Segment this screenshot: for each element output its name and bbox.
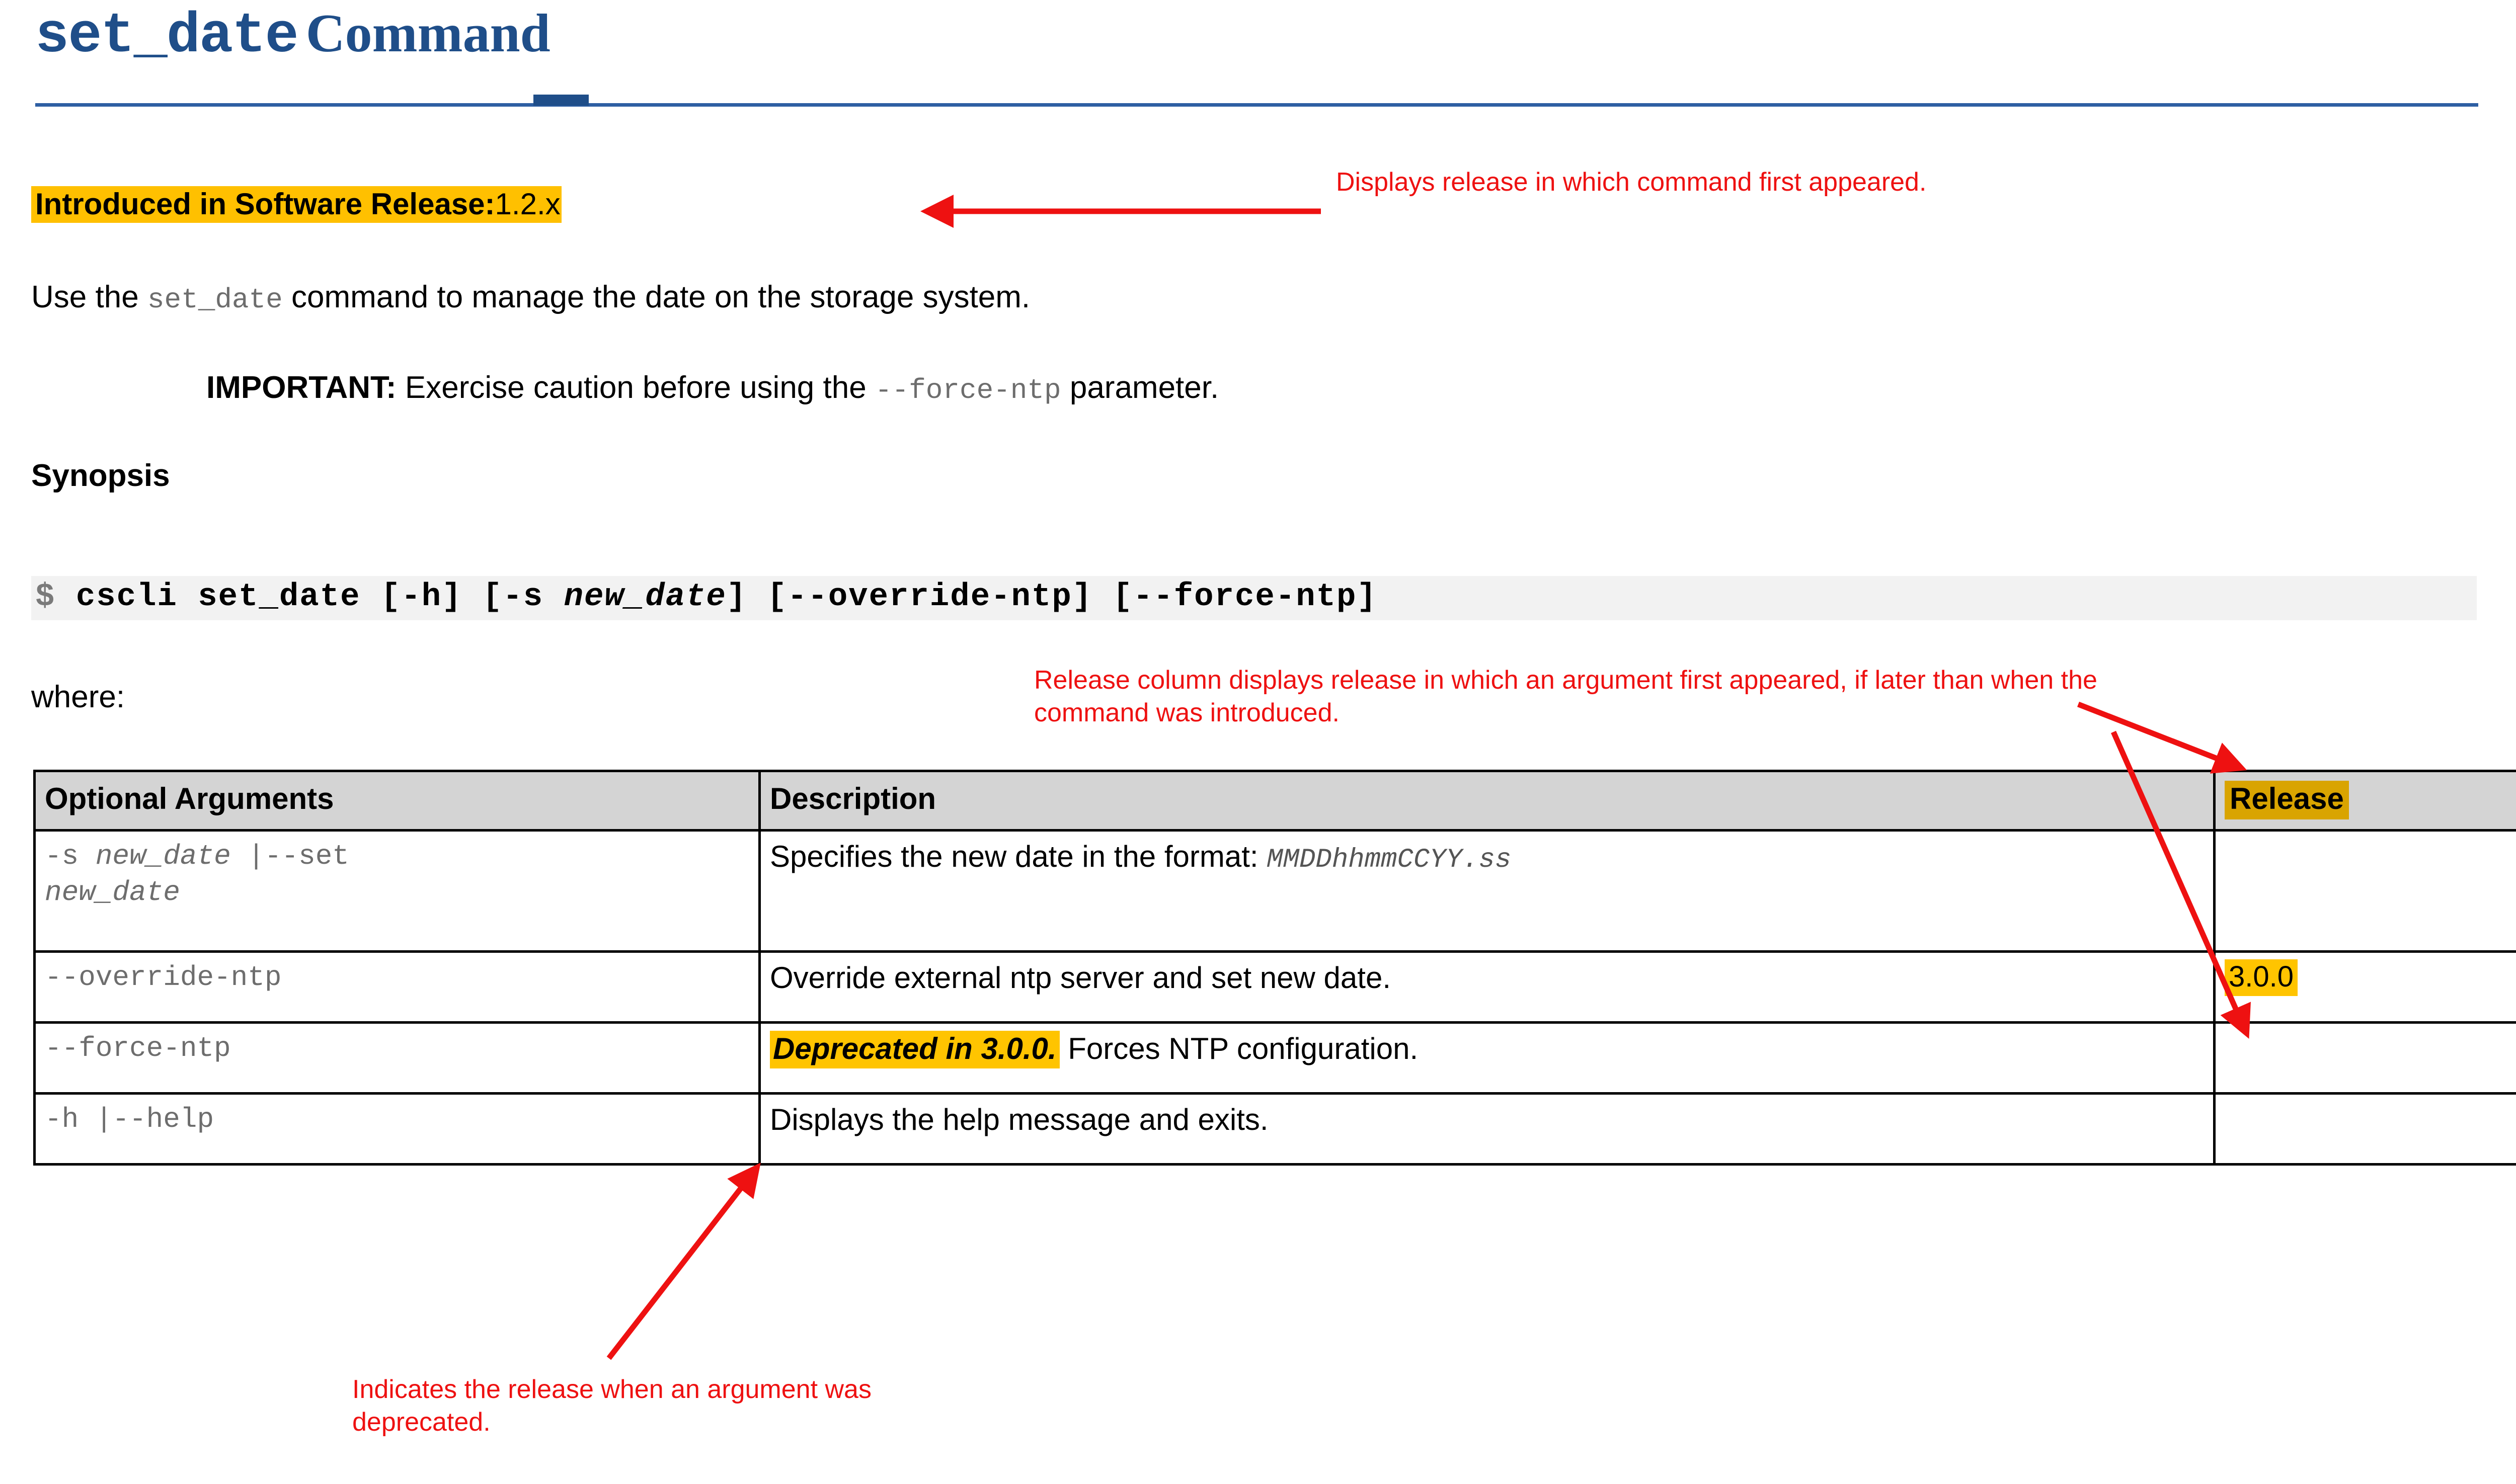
- cell-release: 3.0.0: [2215, 952, 2516, 1023]
- table-row: --force-ntp Deprecated in 3.0.0. Forces …: [35, 1023, 2516, 1094]
- important-text-prefix: Exercise caution before using the: [397, 370, 875, 405]
- cell-release: [2215, 1023, 2516, 1094]
- title-command-name: set_date: [35, 5, 298, 68]
- introduced-in-release-badge: Introduced in Software Release:1.2.x: [31, 186, 562, 223]
- deprecated-badge: Deprecated in 3.0.0.: [770, 1031, 1060, 1068]
- cell-argument: -h |--help: [35, 1094, 760, 1165]
- important-text-suffix: parameter.: [1061, 370, 1219, 405]
- arrow-to-deprecated-badge: [609, 1167, 757, 1358]
- description-paragraph: Use the set_date command to manage the d…: [31, 279, 1030, 316]
- table-row: --override-ntp Override external ntp ser…: [35, 952, 2516, 1023]
- arg-new-date-2: new_date: [45, 876, 180, 909]
- shell-prompt: $: [35, 579, 55, 615]
- cell-argument: --override-ntp: [35, 952, 760, 1023]
- annotation-release-intro: Displays release in which command first …: [1336, 166, 1940, 199]
- synopsis-heading: Synopsis: [31, 458, 170, 493]
- synopsis-code-block: $ cscli set_date [-h] [-s new_date] [--o…: [31, 576, 2477, 620]
- inline-code-force-ntp: --force-ntp: [875, 374, 1061, 406]
- document-page: set_dateCommand Introduced in Software R…: [0, 0, 2516, 1484]
- table-row: -h |--help Displays the help message and…: [35, 1094, 2516, 1165]
- cell-description: Override external ntp server and set new…: [760, 952, 2215, 1023]
- release-badge-300: 3.0.0: [2225, 959, 2298, 996]
- annotation-deprecated: Indicates the release when an argument w…: [352, 1373, 906, 1439]
- synopsis-command-part2: ] [--override-ntp] [--force-ntp]: [727, 579, 1377, 615]
- cell-argument: -s new_date |--setnew_date: [35, 831, 760, 952]
- important-label: IMPORTANT:: [206, 370, 397, 405]
- optional-arguments-table: Optional Arguments Description Release -…: [33, 770, 2516, 1166]
- header-release: Release: [2215, 771, 2516, 831]
- where-label: where:: [31, 679, 125, 715]
- page-title: set_dateCommand: [35, 0, 2481, 65]
- important-note: IMPORTANT: Exercise caution before using…: [206, 370, 1219, 406]
- synopsis-command-part1: cscli set_date [-h] [-s: [55, 579, 564, 615]
- cell-release: [2215, 1094, 2516, 1165]
- introduced-label: Introduced in Software Release:: [35, 187, 495, 221]
- cell-description: Specifies the new date in the format: MM…: [760, 831, 2215, 952]
- cell-description: Deprecated in 3.0.0. Forces NTP configur…: [760, 1023, 2215, 1094]
- header-description: Description: [760, 771, 2215, 831]
- use-prefix: Use the: [31, 280, 147, 314]
- arg-set-alias: |--set: [231, 840, 349, 872]
- cell-description: Displays the help message and exits.: [760, 1094, 2215, 1165]
- arg-new-date-1: new_date: [96, 840, 231, 872]
- introduced-version: 1.2.x: [495, 187, 561, 221]
- title-suffix: Command: [306, 4, 551, 63]
- annotation-release-column: Release column displays release in which…: [1034, 664, 2141, 729]
- title-divider-tab: [533, 95, 589, 106]
- desc-text: Specifies the new date in the format:: [770, 840, 1267, 873]
- desc-date-format: MMDDhhmmCCYY.ss: [1267, 845, 1511, 875]
- title-divider: [35, 103, 2478, 107]
- table-row: -s new_date |--setnew_date Specifies the…: [35, 831, 2516, 952]
- table-header-row: Optional Arguments Description Release: [35, 771, 2516, 831]
- cell-release: [2215, 831, 2516, 952]
- header-release-badge: Release: [2225, 781, 2349, 819]
- header-optional-arguments: Optional Arguments: [35, 771, 760, 831]
- use-suffix: command to manage the date on the storag…: [283, 280, 1030, 314]
- desc-text: Forces NTP configuration.: [1060, 1032, 1419, 1065]
- inline-code-set-date: set_date: [147, 284, 283, 316]
- cell-argument: --force-ntp: [35, 1023, 760, 1094]
- arg-flag-s: -s: [45, 840, 96, 872]
- synopsis-command-placeholder: new_date: [564, 579, 727, 615]
